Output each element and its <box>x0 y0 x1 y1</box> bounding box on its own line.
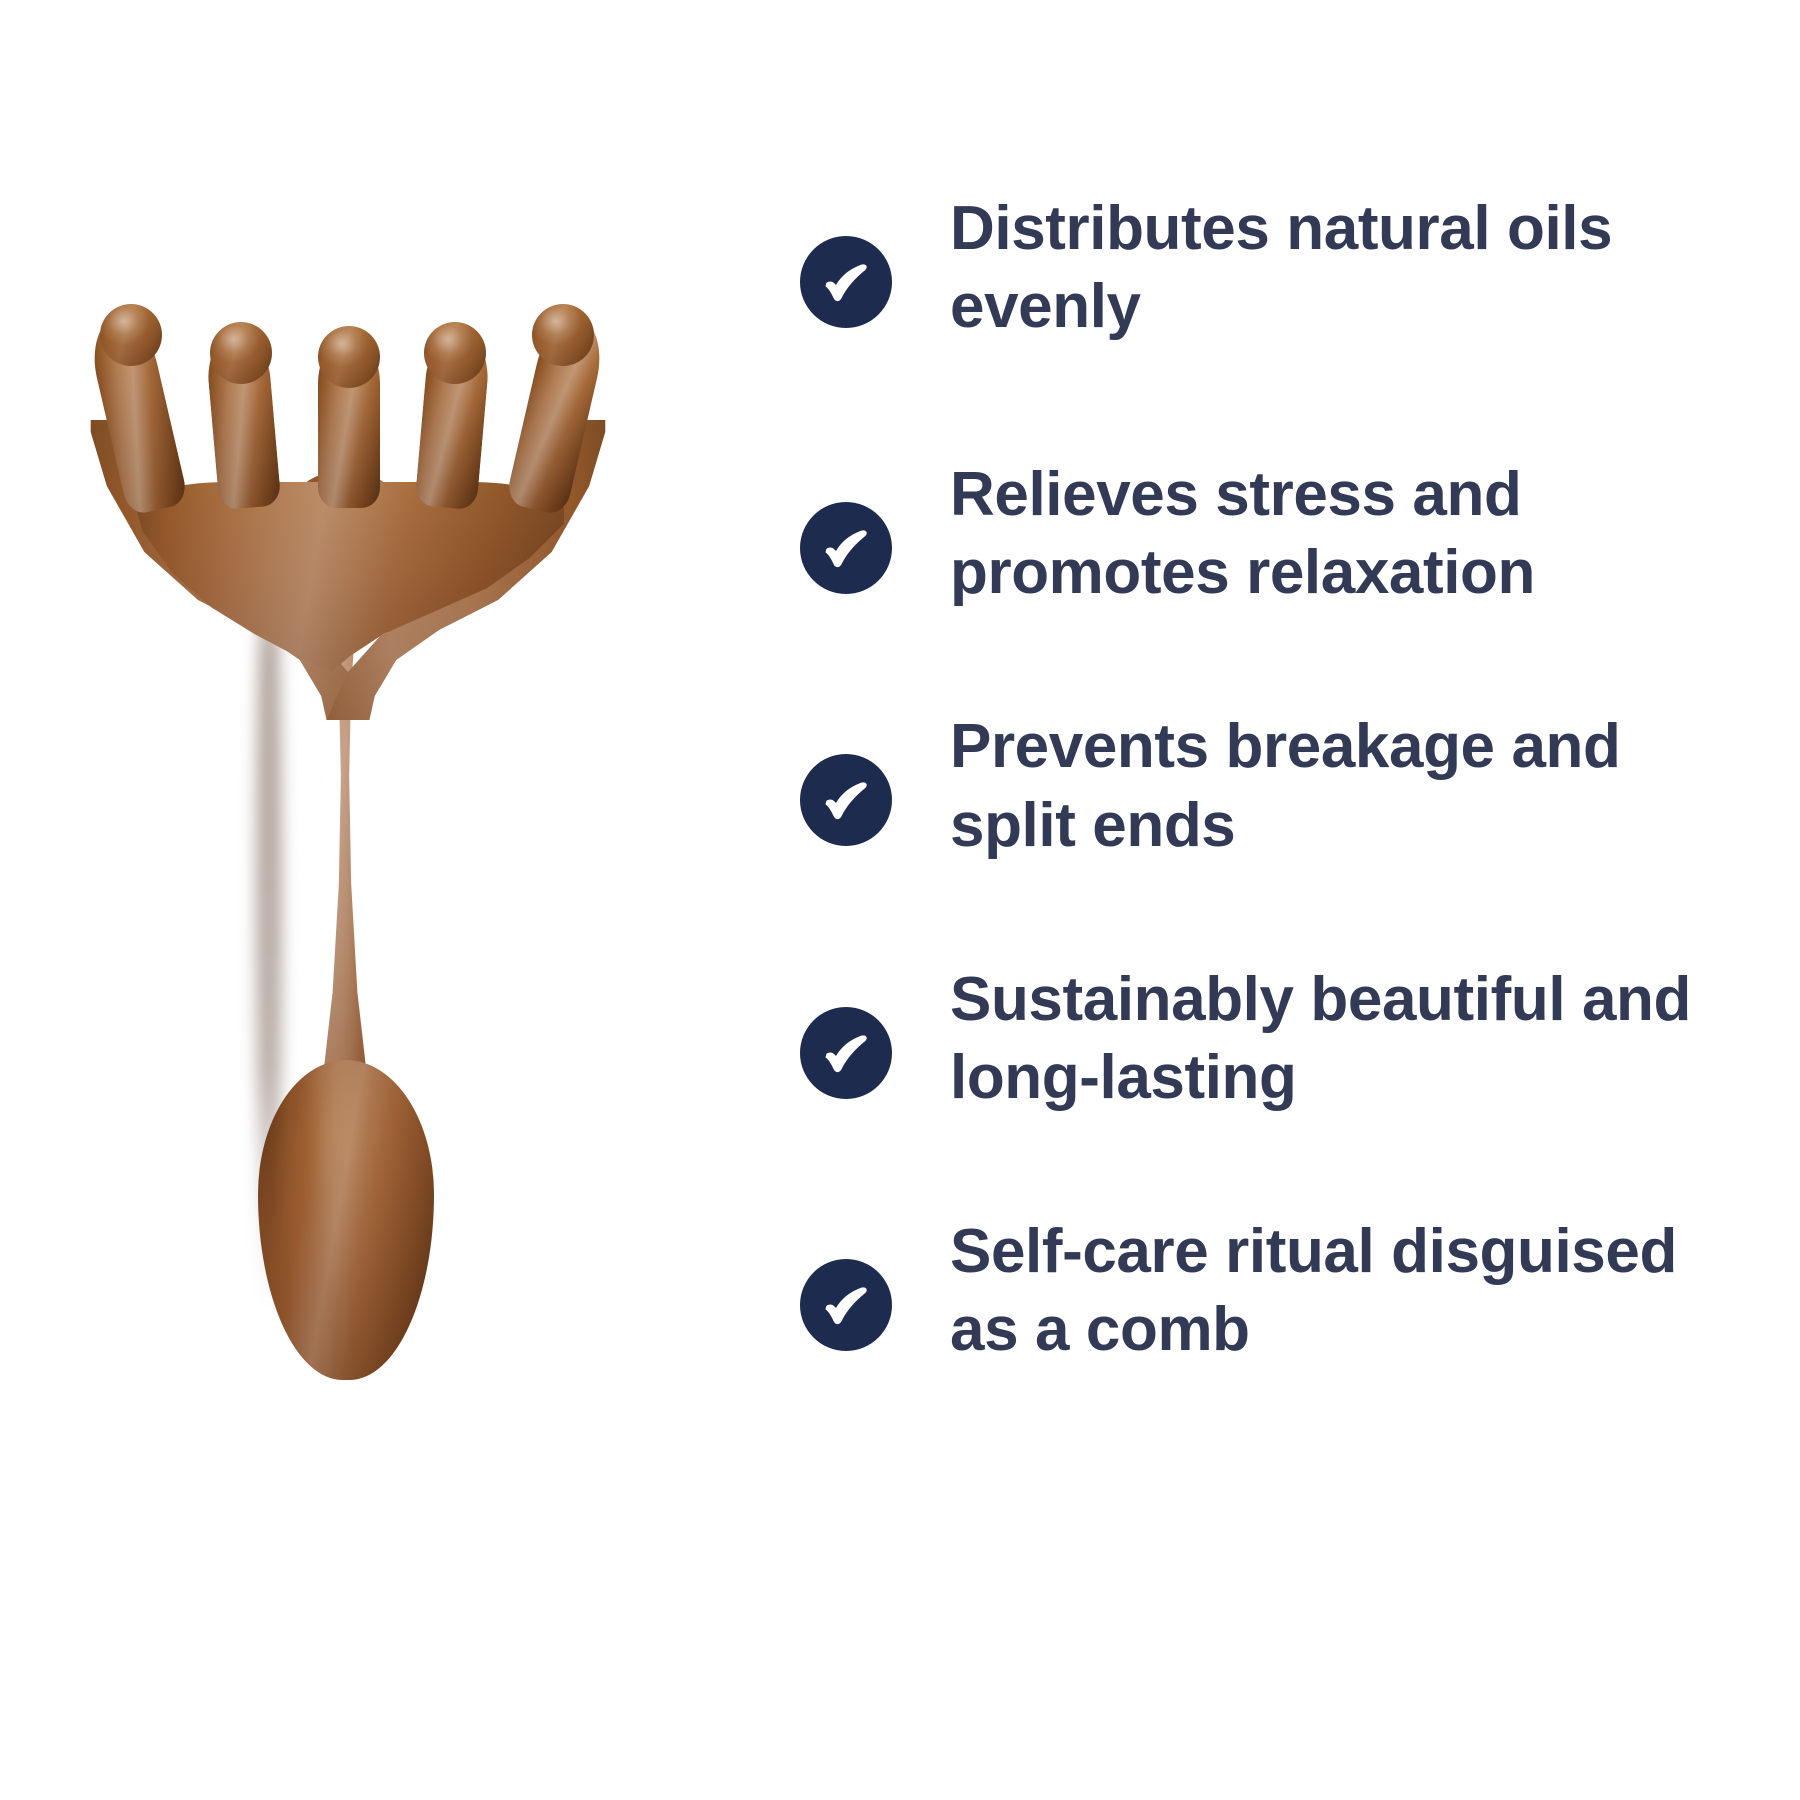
benefit-item: Distributes natural oils evenly <box>800 190 1740 346</box>
comb-prong-tip-4 <box>424 322 486 384</box>
comb-prong-tip-1 <box>100 304 162 366</box>
product-benefits-infographic: Distributes natural oils evenly Relieves… <box>0 0 1800 1800</box>
benefit-label: Relieves stress and promotes relaxation <box>950 456 1740 612</box>
benefit-item: Prevents breakage and split ends <box>800 708 1740 864</box>
benefit-label: Prevents breakage and split ends <box>950 708 1740 864</box>
check-icon <box>800 1007 892 1099</box>
comb-prong-tip-3 <box>318 326 380 388</box>
comb-head-base <box>134 482 564 672</box>
benefits-list: Distributes natural oils evenly Relieves… <box>800 190 1740 1369</box>
comb-prong-tip-5 <box>532 304 594 366</box>
benefit-item: Self-care ritual disguised as a comb <box>800 1213 1740 1369</box>
product-image <box>60 270 640 1380</box>
check-icon <box>800 236 892 328</box>
benefit-label: Distributes natural oils evenly <box>950 190 1740 346</box>
benefit-label: Self-care ritual disguised as a comb <box>950 1213 1740 1369</box>
check-icon <box>800 754 892 846</box>
check-icon <box>800 1259 892 1351</box>
benefit-item: Relieves stress and promotes relaxation <box>800 456 1740 612</box>
product-illustration <box>60 270 640 1380</box>
benefit-label: Sustainably beautiful and long-lasting <box>950 961 1740 1117</box>
comb-prong-tip-2 <box>210 322 272 384</box>
benefit-item: Sustainably beautiful and long-lasting <box>800 961 1740 1117</box>
check-icon <box>800 502 892 594</box>
